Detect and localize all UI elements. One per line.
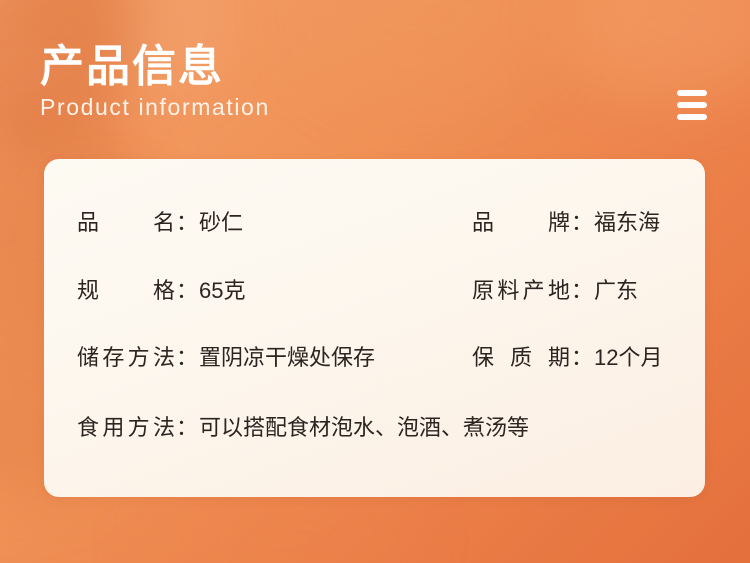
menu-bar-top [677, 90, 707, 96]
info-field-specification: 规格 ： 65克 [77, 276, 246, 306]
page-title: 产品信息 [40, 44, 270, 91]
info-value: 置阴凉干燥处保存 [199, 343, 375, 373]
info-label: 食用方法 [77, 413, 175, 443]
product-info-card: 品名 ： 砂仁 品牌 ： 福东海 规格 ： 65克 原料产地 [44, 159, 705, 497]
info-value: 可以搭配食材泡水、泡酒、煮汤等 [199, 413, 529, 443]
info-colon: ： [175, 343, 199, 373]
info-label: 保质期 [472, 343, 570, 373]
info-field-usage: 食用方法 ： 可以搭配食材泡水、泡酒、煮汤等 [77, 413, 529, 443]
menu-bar-bottom [677, 114, 707, 120]
title-block: 产品信息 Product information [40, 44, 270, 121]
info-value: 福东海 [594, 208, 660, 238]
hamburger-menu-icon[interactable] [670, 84, 714, 126]
info-row: 规格 ： 65克 原料产地 ： 广东 [44, 276, 705, 306]
menu-bar-middle [677, 102, 707, 108]
info-value: 12个月 [594, 343, 662, 373]
info-row: 品名 ： 砂仁 品牌 ： 福东海 [44, 208, 705, 238]
info-label: 品牌 [472, 208, 570, 238]
info-row: 储存方法 ： 置阴凉干燥处保存 保质期 ： 12个月 [44, 343, 705, 373]
info-colon: ： [175, 208, 199, 238]
page-header: 产品信息 Product information [0, 0, 750, 160]
info-field-shelf-life: 保质期 ： 12个月 [472, 343, 663, 373]
info-colon: ： [570, 276, 594, 306]
info-value: 65克 [199, 276, 245, 306]
product-info-rows: 品名 ： 砂仁 品牌 ： 福东海 规格 ： 65克 原料产地 [44, 159, 705, 497]
info-colon: ： [570, 208, 594, 238]
info-field-brand: 品牌 ： 福东海 [472, 208, 660, 238]
info-value: 砂仁 [199, 208, 243, 238]
info-row: 食用方法 ： 可以搭配食材泡水、泡酒、煮汤等 [44, 413, 705, 443]
info-colon: ： [175, 413, 199, 443]
info-label: 原料产地 [472, 276, 570, 306]
info-label: 品名 [77, 208, 175, 238]
info-field-product-name: 品名 ： 砂仁 [77, 208, 243, 238]
page-subtitle: Product information [40, 94, 270, 121]
info-value: 广东 [594, 276, 638, 306]
product-info-screen: 产品信息 Product information 品名 ： 砂仁 品牌 ： 福东 [0, 0, 750, 563]
info-field-storage: 储存方法 ： 置阴凉干燥处保存 [77, 343, 375, 373]
info-label: 规格 [77, 276, 175, 306]
info-colon: ： [175, 276, 199, 306]
info-field-origin: 原料产地 ： 广东 [472, 276, 638, 306]
info-label: 储存方法 [77, 343, 175, 373]
info-colon: ： [570, 343, 594, 373]
